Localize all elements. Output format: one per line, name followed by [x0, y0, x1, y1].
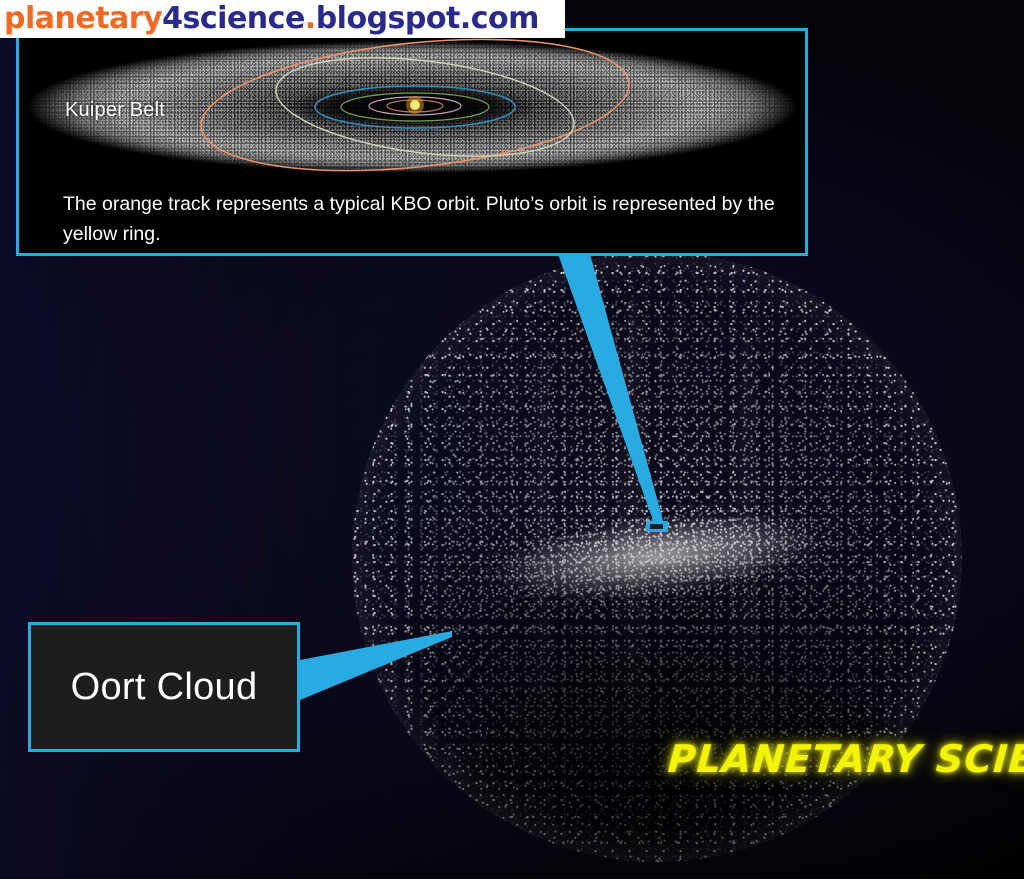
planetary-science-logo: PLANETARY SCIENCE	[666, 737, 1024, 781]
oort-cloud-callout[interactable]: Oort Cloud	[28, 622, 300, 752]
watermark-text: planetary4science.blogspot.com	[0, 4, 539, 34]
oort-cloud-label: Oort Cloud	[71, 666, 258, 709]
watermark-part-planetary: planetary	[4, 1, 162, 36]
diagram-canvas: Kuiper Belt The orange track represents …	[0, 0, 1024, 879]
watermark-part-blogspot: blogspot.com	[316, 1, 539, 36]
watermark-part-dot: .	[305, 1, 316, 36]
kuiper-belt-label: Kuiper Belt	[65, 99, 165, 122]
site-watermark: planetary4science.blogspot.com	[0, 0, 565, 38]
sun	[410, 100, 420, 110]
kuiper-belt-caption: The orange track represents a typical KB…	[63, 189, 779, 249]
solar-system-scale-marker	[646, 521, 668, 532]
kuiper-belt-illustration: Kuiper Belt	[19, 31, 805, 183]
kuiper-belt-inset[interactable]: Kuiper Belt The orange track represents …	[16, 28, 808, 256]
watermark-part-4science: 4science	[162, 1, 305, 36]
pluto-orbit	[271, 43, 580, 171]
scale-marker-core	[650, 524, 663, 529]
